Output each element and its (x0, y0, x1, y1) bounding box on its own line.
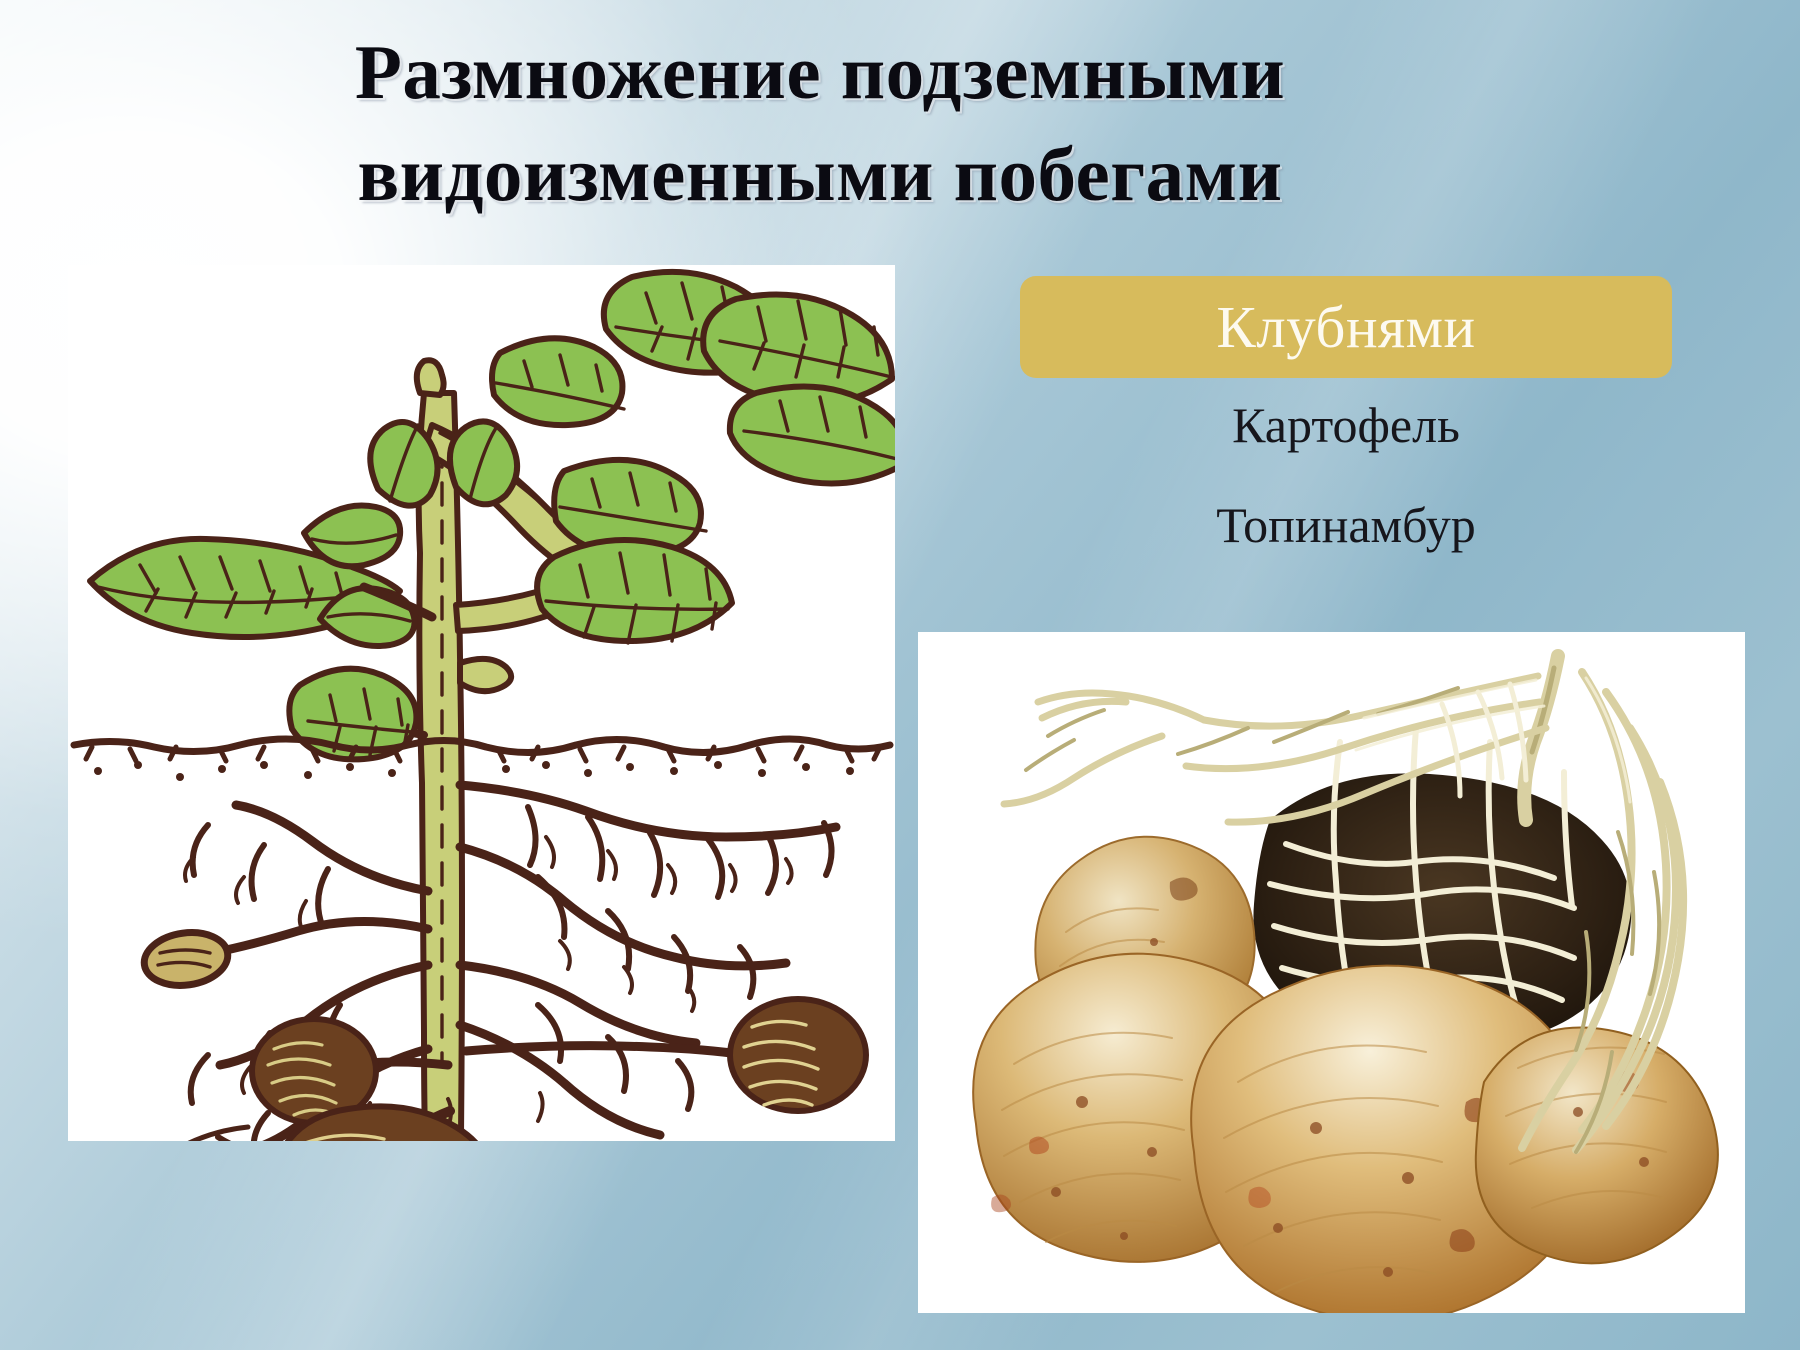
figure-plant-diagram: .ln{fill:none;stroke:#4a2318;stroke-line… (68, 265, 895, 1141)
plant-diagram-illustration: .ln{fill:none;stroke:#4a2318;stroke-line… (68, 265, 895, 1141)
callout-klubnyami: Клубнями (1020, 276, 1672, 378)
figure-potato-photo: .rt{fill:none;stroke:#d9d0a2;stroke-line… (918, 632, 1745, 1313)
page-title: Размножение подземными видоизменными поб… (180, 22, 1460, 225)
callout-label: Клубнями (1216, 298, 1475, 357)
potato-photo-illustration: .rt{fill:none;stroke:#d9d0a2;stroke-line… (918, 632, 1745, 1313)
example-item-0: Картофель (1020, 400, 1672, 450)
example-item-1: Топинамбур (1020, 500, 1672, 550)
slide-canvas: Размножение подземными видоизменными поб… (0, 0, 1800, 1350)
